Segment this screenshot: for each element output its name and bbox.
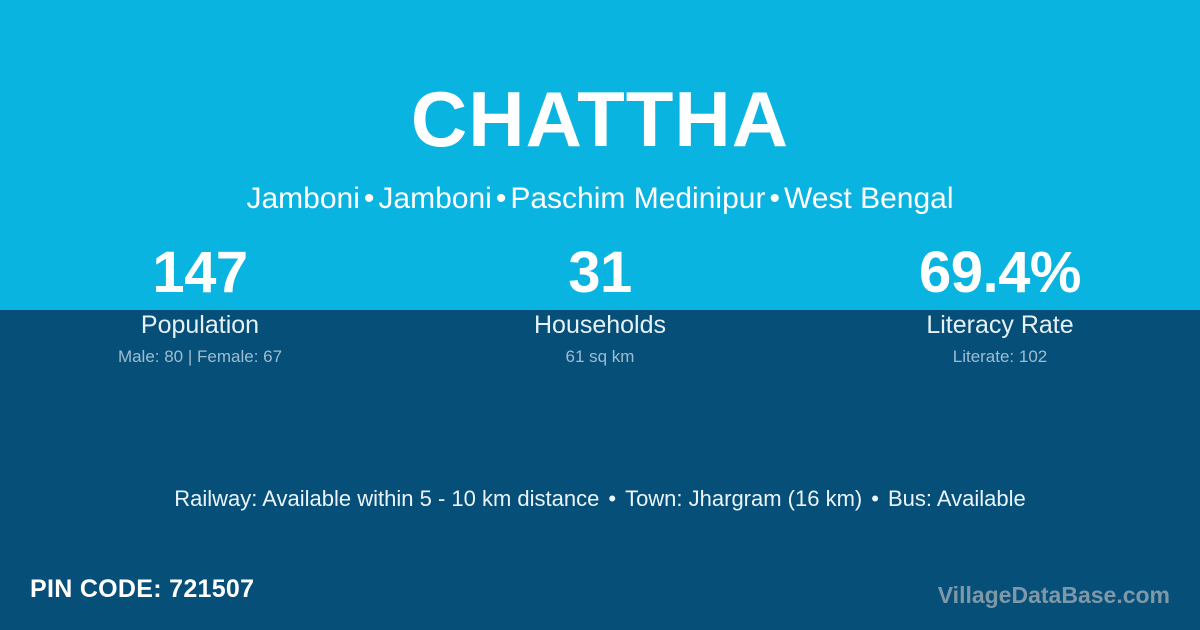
- stat-literacy-value: 69.4%: [800, 243, 1200, 303]
- stat-population-sub: Male: 80 | Female: 67: [0, 347, 400, 367]
- page-title: CHATTHA: [0, 80, 1200, 158]
- stat-households-sub: 61 sq km: [400, 347, 800, 367]
- stat-population-value: 147: [0, 243, 400, 303]
- breadcrumb-separator-1: •: [360, 182, 379, 215]
- stat-literacy-label: Literacy Rate: [800, 310, 1200, 340]
- amenity-railway: Railway: Available within 5 - 10 km dist…: [174, 486, 599, 511]
- amenity-separator-1: •: [599, 486, 625, 511]
- breadcrumb-separator-2: •: [492, 182, 511, 215]
- stat-households: 31 Households 61 sq km: [400, 243, 800, 383]
- stat-population-label: Population: [0, 310, 400, 340]
- stats-row: 147 Population Male: 80 | Female: 67 31 …: [0, 243, 1200, 383]
- breadcrumb-state: West Bengal: [784, 182, 954, 215]
- amenity-town: Town: Jhargram (16 km): [625, 486, 862, 511]
- breadcrumb-subdistrict: Jamboni: [378, 182, 491, 215]
- stat-literacy-sub: Literate: 102: [800, 347, 1200, 367]
- pin-code: PIN CODE: 721507: [30, 573, 254, 605]
- breadcrumb: Jamboni•Jamboni•Paschim Medinipur•West B…: [0, 181, 1200, 217]
- breadcrumb-separator-3: •: [765, 182, 784, 215]
- amenity-separator-2: •: [862, 486, 888, 511]
- amenity-bus: Bus: Available: [888, 486, 1026, 511]
- breadcrumb-district: Paschim Medinipur: [510, 182, 765, 215]
- village-info-card: CHATTHA Jamboni•Jamboni•Paschim Medinipu…: [0, 0, 1200, 630]
- stat-literacy: 69.4% Literacy Rate Literate: 102: [800, 243, 1200, 383]
- breadcrumb-block: Jamboni: [246, 182, 359, 215]
- stat-population: 147 Population Male: 80 | Female: 67: [0, 243, 400, 383]
- site-brand-watermark: VillageDataBase.com: [938, 580, 1170, 610]
- amenities-line: Railway: Available within 5 - 10 km dist…: [0, 484, 1200, 514]
- stat-households-label: Households: [400, 310, 800, 340]
- stat-households-value: 31: [400, 243, 800, 303]
